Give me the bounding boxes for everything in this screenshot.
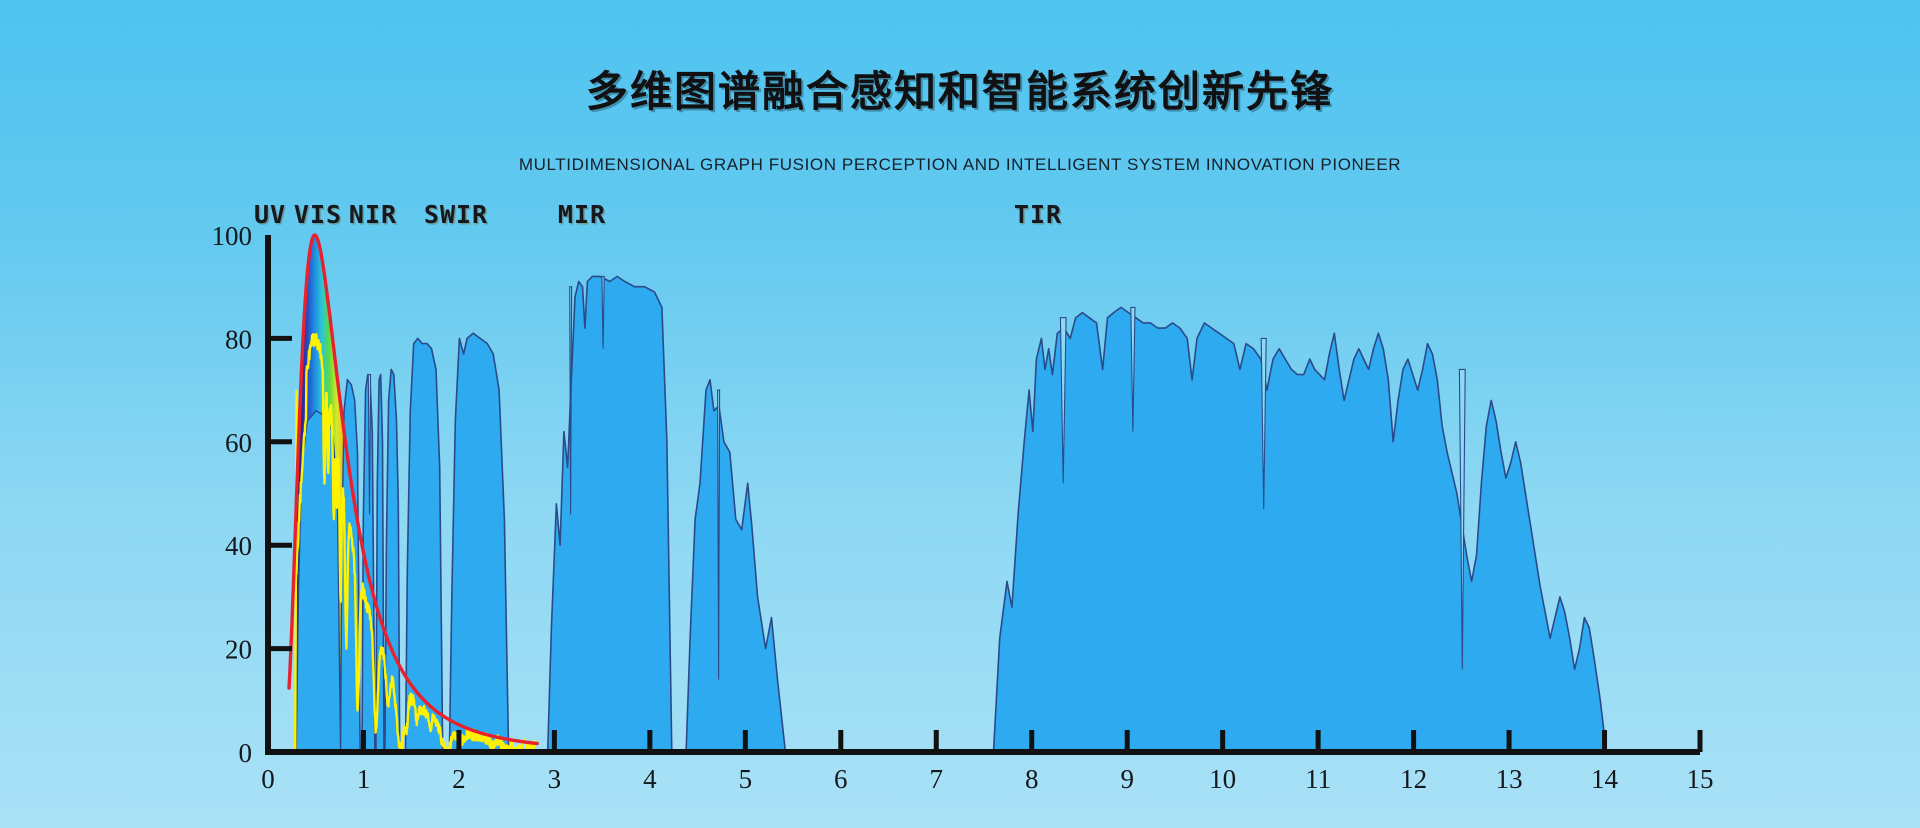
- x-tick-label-5: 5: [739, 764, 753, 794]
- x-tick-label-3: 3: [548, 764, 562, 794]
- y-tick-label-60: 60: [225, 428, 252, 458]
- x-tick-label-13: 13: [1496, 764, 1523, 794]
- transmission-bands: [296, 276, 1606, 752]
- x-tick-label-4: 4: [643, 764, 657, 794]
- x-tick-label-10: 10: [1209, 764, 1236, 794]
- y-tick-label-80: 80: [225, 324, 252, 354]
- transmission-window-5: [406, 338, 443, 752]
- y-tick-label-100: 100: [212, 221, 253, 251]
- x-tick-label-6: 6: [834, 764, 848, 794]
- transmission-window-7: [548, 276, 672, 752]
- poster-canvas: 多维图谱融合感知和智能系统创新先锋 MULTIDIMENSIONAL GRAPH…: [0, 0, 1920, 828]
- x-tick-label-11: 11: [1305, 764, 1331, 794]
- spectrum-chart: 0123456789101112131415020406080100: [0, 0, 1920, 828]
- y-tick-label-0: 0: [239, 738, 253, 768]
- transmission-window-6: [449, 333, 508, 752]
- transmission-window-9: [994, 307, 1607, 752]
- x-tick-label-7: 7: [930, 764, 944, 794]
- x-tick-label-9: 9: [1120, 764, 1134, 794]
- x-tick-label-14: 14: [1591, 764, 1619, 794]
- x-tick-label-8: 8: [1025, 764, 1039, 794]
- x-tick-label-15: 15: [1687, 764, 1714, 794]
- x-tick-label-2: 2: [452, 764, 466, 794]
- x-tick-label-12: 12: [1400, 764, 1427, 794]
- y-tick-label-40: 40: [225, 531, 252, 561]
- x-tick-label-1: 1: [357, 764, 371, 794]
- y-tick-label-20: 20: [225, 635, 252, 665]
- transmission-window-8: [686, 380, 785, 752]
- x-tick-label-0: 0: [261, 764, 275, 794]
